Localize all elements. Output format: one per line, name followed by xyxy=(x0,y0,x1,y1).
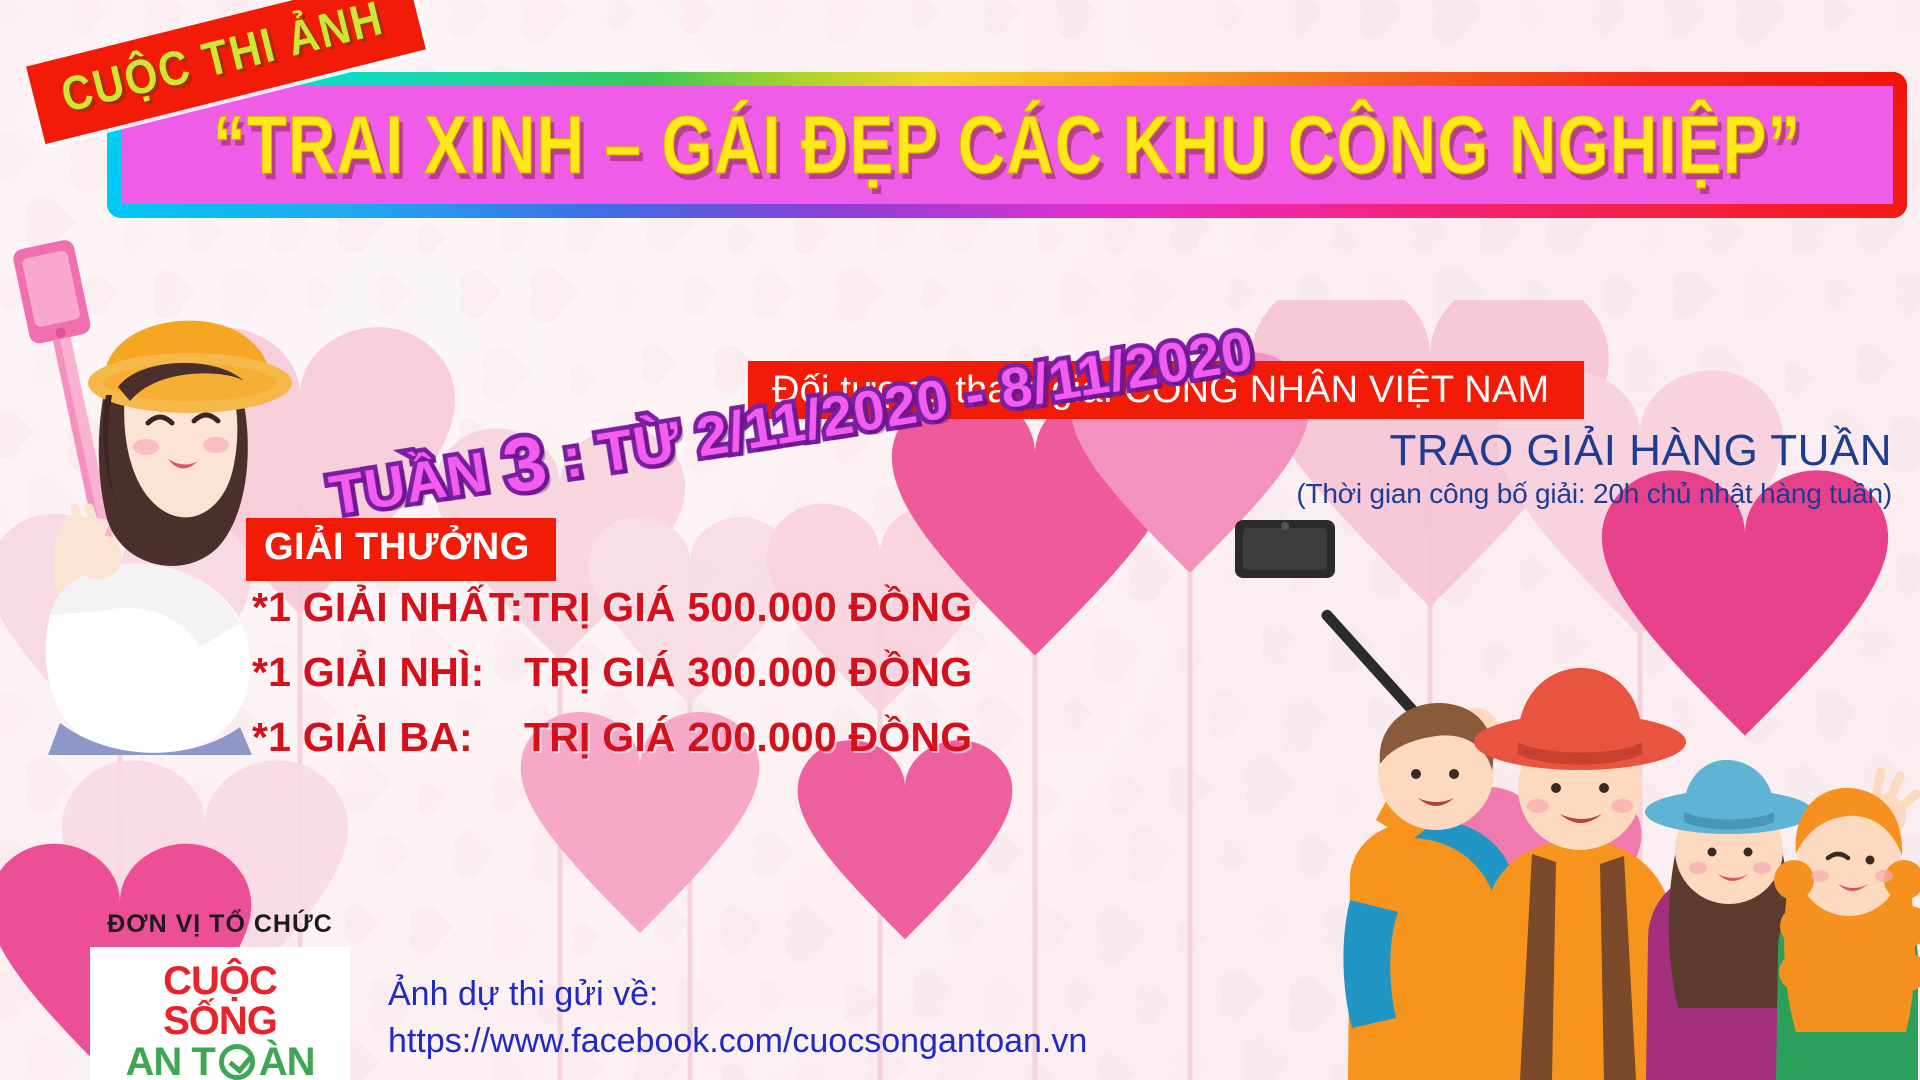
prize-list: *1 GIẢI NHẤT: TRỊ GIÁ 500.000 ĐỒNG *1 GI… xyxy=(252,584,972,779)
logo-an-text: ÀN xyxy=(259,1041,315,1080)
friends-group-illustration xyxy=(1200,520,1920,1080)
prize-label: *1 GIẢI BA: xyxy=(252,714,524,761)
submission-label: Ảnh dự thi gửi về: xyxy=(388,975,1087,1014)
title-border-right-gradient xyxy=(1893,72,1907,218)
logo-line-an-toan: AN T ÀN xyxy=(102,1041,338,1080)
logo-an-t-text: AN T xyxy=(125,1041,214,1080)
prize-value: TRỊ GIÁ 500.000 ĐỒNG xyxy=(524,584,972,631)
prize-row: *1 GIẢI BA: TRỊ GIÁ 200.000 ĐỒNG xyxy=(252,714,972,761)
prize-row: *1 GIẢI NHẤT: TRỊ GIÁ 500.000 ĐỒNG xyxy=(252,584,972,631)
week-number: 3 xyxy=(497,419,553,510)
submission-facebook-link[interactable]: https://www.facebook.com/cuocsongantoan.… xyxy=(388,1022,1087,1060)
prize-row: *1 GIẢI NHÌ: TRỊ GIÁ 300.000 ĐỒNG xyxy=(252,649,972,696)
organizer-logo: CUỘC SỐNG AN T ÀN CUOCSONGANTOAN.VN xyxy=(90,947,350,1080)
prize-heading-label: GIẢI THƯỞNG xyxy=(264,526,530,568)
poster-canvas: “TRAI XINH – GÁI ĐẸP CÁC KHU CÔNG NGHIỆP… xyxy=(0,0,1920,1080)
award-schedule-block: TRAO GIẢI HÀNG TUẦN (Thời gian công bố g… xyxy=(1132,428,1892,510)
award-title: TRAO GIẢI HÀNG TUẦN xyxy=(1132,428,1892,474)
organizer-block: ĐƠN VỊ TỔ CHỨC CUỘC SỐNG AN T ÀN CUOCSON… xyxy=(70,910,370,1080)
prize-value: TRỊ GIÁ 200.000 ĐỒNG xyxy=(524,714,972,761)
check-circle-icon xyxy=(219,1044,255,1080)
prize-label: *1 GIẢI NHÌ: xyxy=(252,649,524,696)
prize-label: *1 GIẢI NHẤT: xyxy=(252,584,524,631)
award-subtitle: (Thời gian công bố giải: 20h chủ nhật hà… xyxy=(1132,478,1892,510)
logo-line-cuoc-song: CUỘC SỐNG xyxy=(102,961,338,1041)
page-title: “TRAI XINH – GÁI ĐẸP CÁC KHU CÔNG NGHIỆP… xyxy=(148,73,1867,217)
week-prefix: TUẦN xyxy=(325,439,492,526)
organizer-label: ĐƠN VỊ TỔ CHỨC xyxy=(70,910,370,939)
prize-value: TRỊ GIÁ 300.000 ĐỒNG xyxy=(524,649,972,696)
main-title-banner: “TRAI XINH – GÁI ĐẸP CÁC KHU CÔNG NGHIỆP… xyxy=(107,72,1907,218)
submission-block: Ảnh dự thi gửi về: https://www.facebook.… xyxy=(388,975,1087,1061)
